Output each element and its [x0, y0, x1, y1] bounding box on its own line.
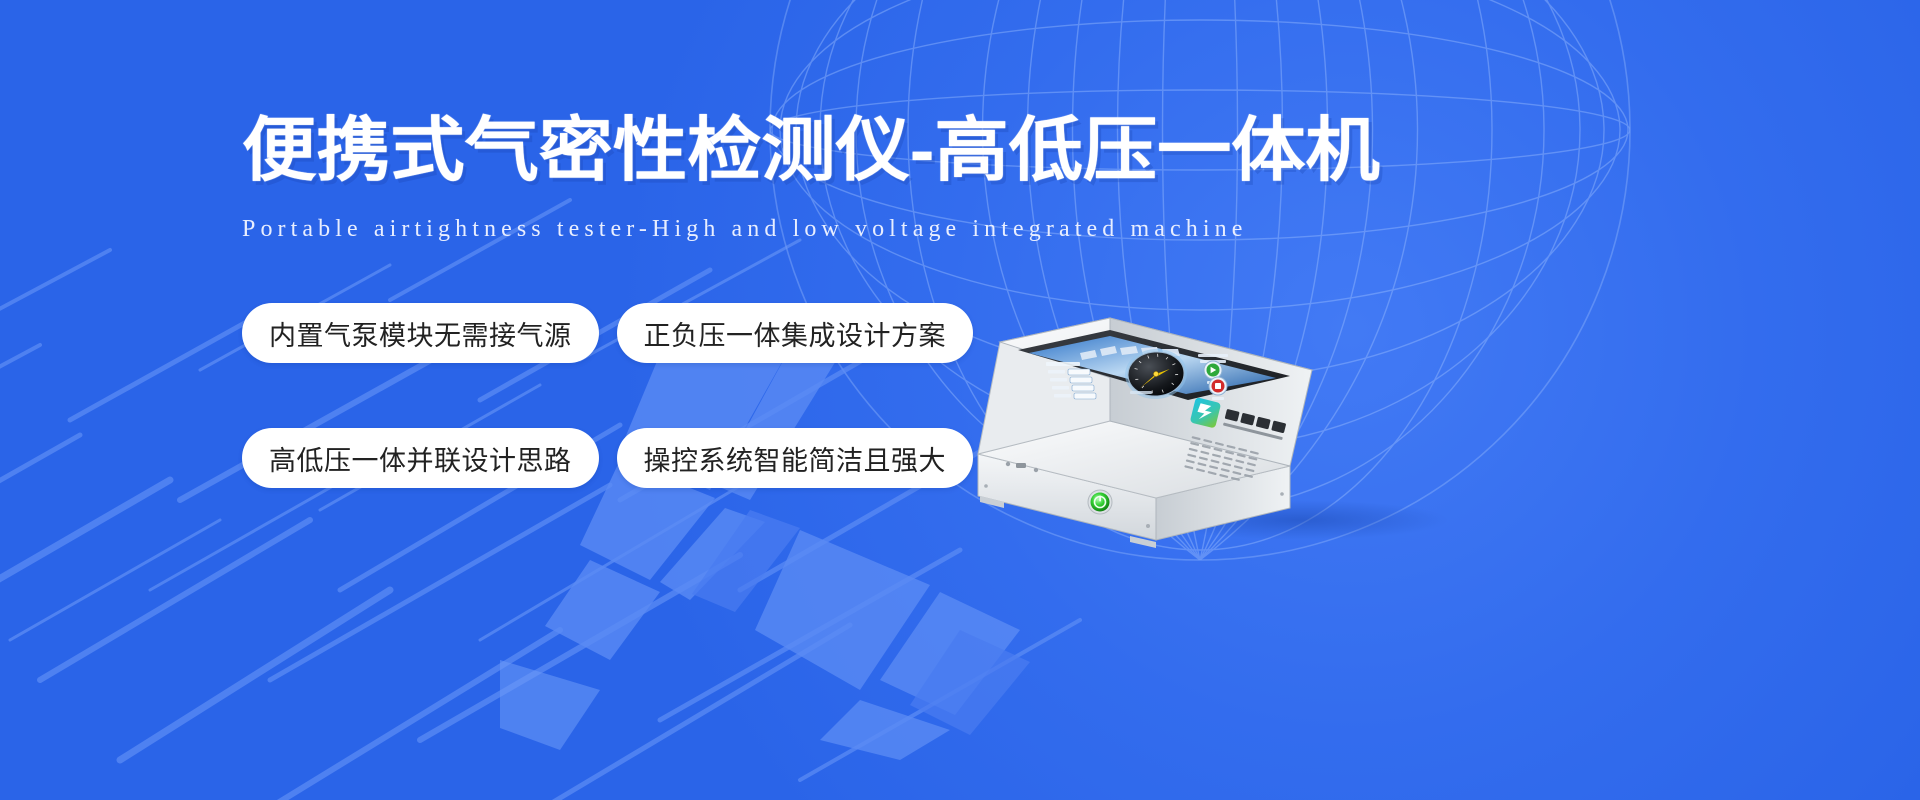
- power-icon: [1099, 496, 1101, 502]
- page-title: 便携式气密性检测仪-高低压一体机: [242, 108, 1380, 192]
- feature-pill-4[interactable]: 操控系统智能简洁且强大: [617, 428, 974, 488]
- page-subtitle: Portable airtightness tester-High and lo…: [242, 214, 1362, 244]
- power-button: [1088, 490, 1112, 514]
- feature-row-2: 高低压一体并联设计思路 操控系统智能简洁且强大: [242, 428, 942, 488]
- stop-icon: [1215, 383, 1221, 389]
- title-row: 便携式气密性检测仪-高低压一体机: [242, 108, 1362, 192]
- feature-pill-1[interactable]: 内置气泵模块无需接气源: [242, 303, 599, 363]
- feature-pill-2[interactable]: 正负压一体集成设计方案: [617, 303, 974, 363]
- tester-illustration: [960, 258, 1380, 548]
- screen-section-label: [1046, 362, 1080, 366]
- usb-port-icon: [1016, 463, 1026, 468]
- promo-banner: 便携式气密性检测仪-高低压一体机 Portable airtightness t…: [0, 0, 1920, 800]
- feature-list: 内置气泵模块无需接气源 正负压一体集成设计方案 高低压一体并联设计思路 操控系统…: [242, 303, 942, 488]
- feature-row-1: 内置气泵模块无需接气源 正负压一体集成设计方案: [242, 303, 942, 363]
- screen-status-bar: [1130, 391, 1152, 394]
- product-image: [960, 258, 1380, 538]
- headline-block: 便携式气密性检测仪-高低压一体机 Portable airtightness t…: [242, 108, 1362, 244]
- feature-pill-3[interactable]: 高低压一体并联设计思路: [242, 428, 599, 488]
